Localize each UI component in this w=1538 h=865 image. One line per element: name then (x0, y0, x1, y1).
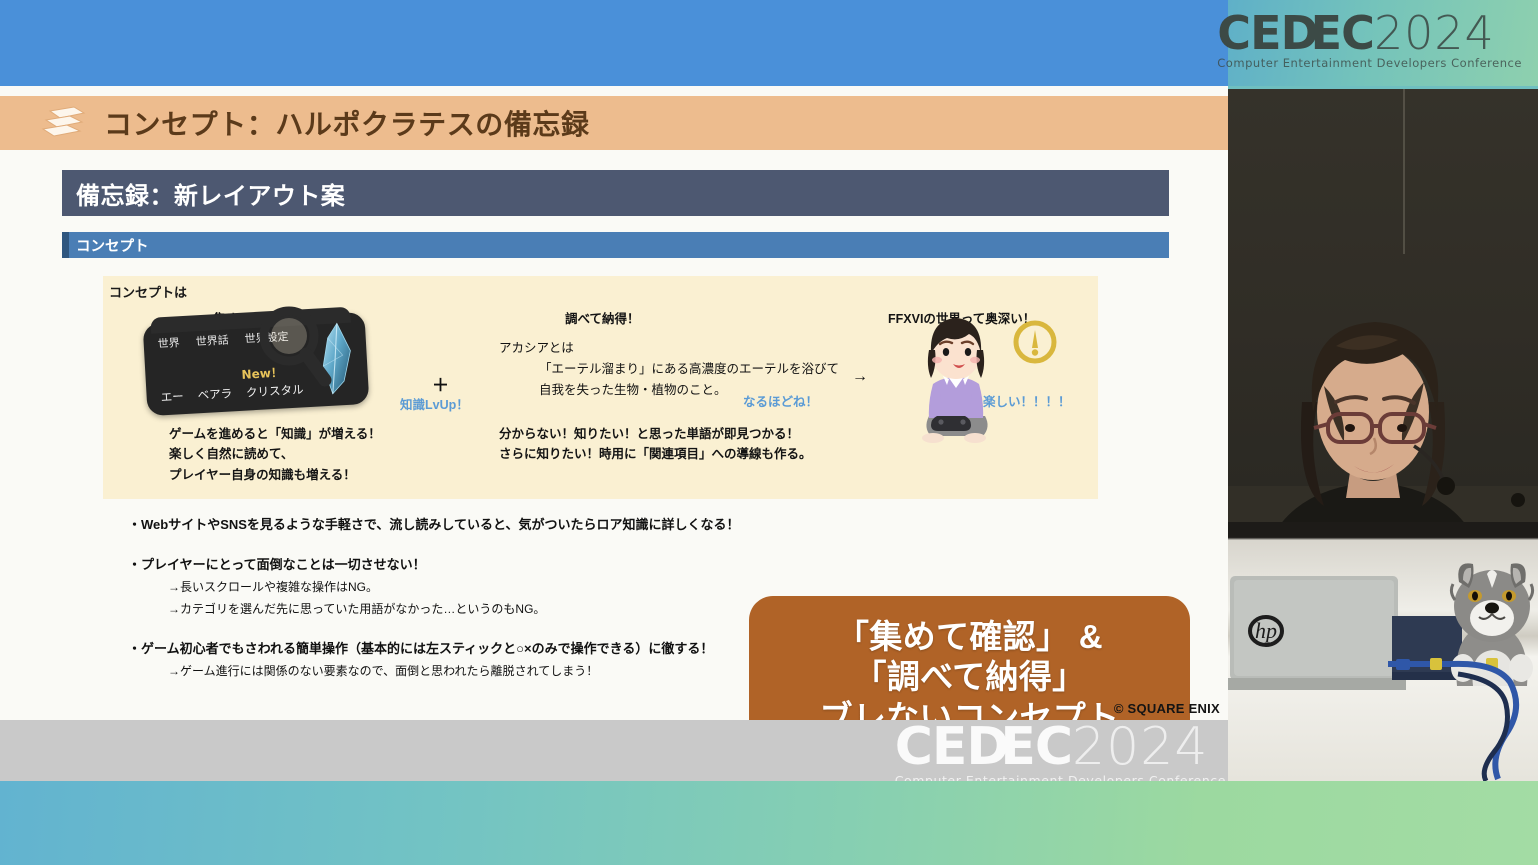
slide-title-bar: コンセプト：ハルポクラテスの備忘録 (0, 96, 1228, 150)
subsection-bar: コンセプト (62, 232, 1169, 258)
card-tab-1: 世界 (157, 334, 180, 351)
cedec-wm-year: 2024 (1072, 721, 1209, 773)
slide-title: コンセプト：ハルポクラテスの備忘録 (104, 103, 590, 143)
card-item-2: ベアラ (197, 385, 232, 403)
note-lvup: 知識LvUp！ (400, 394, 469, 413)
section-header: 備忘録：新レイアウト案 (62, 170, 1169, 216)
spacer-4 (128, 617, 768, 638)
callout-line-2: 「調べて納得」 (854, 657, 1086, 697)
bullet-2-sub-2: →カテゴリを選んだ先に思っていた用語がなかった…というのもNG。 (168, 600, 768, 617)
column-footer-1: ゲームを進めると「知識」が増える！ 楽しく自然に読めて、 プレイヤー自身の知識も… (169, 424, 381, 485)
note-naruhodo: なるほどね！ (743, 391, 818, 410)
callout-line-3: ブレないコンセプト (820, 698, 1120, 720)
definition-body-2: 自我を失った生物・植物のこと。 (539, 380, 727, 402)
col1-foot-line3: プレイヤー自身の知識も増える！ (169, 465, 381, 485)
bullet-2-sub-1: →長いスクロールや複雑な操作はNG。 (168, 578, 768, 595)
bullet-list: ・WebサイトやSNSを見るような手軽さで、流し読みしていると、気がついたらロア… (128, 514, 768, 679)
magnifier-icon (253, 304, 335, 390)
cedec-wm-d: D (966, 720, 1008, 777)
hp-laptop: hp (1228, 574, 1406, 694)
cedec-logo-tagline: Computer Entertainment Developers Confer… (1217, 58, 1522, 70)
girl-with-gamepad-icon (913, 312, 999, 444)
presentation-slide: コンセプト：ハルポクラテスの備忘録 備忘録：新レイアウト案 コンセプト コンセプ… (0, 86, 1228, 720)
books-icon (40, 104, 90, 142)
subsection-label: コンセプト (76, 235, 149, 256)
concept-panel: コンセプトは 集めて確認！ 世界 世界話 世界設定 New！ エー ベアラ クリ… (103, 276, 1098, 499)
camera-top-edge (1228, 86, 1538, 89)
card-tab-2: 世界話 (195, 332, 229, 350)
concept-lead: コンセプトは (109, 282, 187, 301)
spacer-1 (128, 533, 768, 554)
arrow-operator: → (852, 368, 868, 386)
cedec-logo-header: CE D EC 2024 Computer Entertainment Deve… (1217, 10, 1522, 70)
svg-text:hp: hp (1255, 618, 1277, 643)
exclamation-circle-icon (1011, 318, 1059, 366)
cedec-logo-d: D (1281, 6, 1318, 60)
plus-operator: ＋ (432, 371, 449, 396)
wall-seam-line (1403, 86, 1405, 254)
bullet-2: ・プレイヤーにとって面倒なことは一切させない！ (128, 554, 768, 573)
col1-foot-line2: 楽しく自然に読めて、 (169, 444, 381, 464)
note-tanoshii: 楽しい！！！！ (983, 391, 1071, 410)
definition-term: アカシアとは (499, 338, 574, 360)
column-footer-2: 分からない！知りたい！と思った単語が即見つかる！ さらに知りたい！時用に「関連項… (499, 424, 812, 465)
cedec-logo-ce: CE (1217, 10, 1280, 56)
column-heading-2: 調べて納得！ (565, 308, 640, 327)
presenter-camera-feed: hp (1228, 86, 1538, 781)
col2-foot-line1: 分からない！知りたい！と思った単語が即見つかる！ (499, 424, 812, 444)
section-header-label: 備忘録：新レイアウト案 (76, 176, 345, 211)
col2-foot-line2: さらに知りたい！時用に「関連項目」への導線も作る。 (499, 444, 812, 464)
cedec-wm-ce: CE (895, 721, 967, 773)
bullet-3: ・ゲーム初心者でもさわれる簡単操作（基本的には左スティックと○×のみで操作できる… (128, 638, 768, 657)
blue-cable (1388, 646, 1538, 781)
cedec-logo-year: 2024 (1374, 10, 1495, 56)
bottom-gradient-strip (0, 781, 1538, 865)
callout-line-1: 「集めて確認」 & (836, 617, 1103, 657)
cedec-logo-ec: EC (1311, 10, 1374, 56)
copyright-notice: © SQUARE ENIX (1114, 701, 1220, 716)
col1-foot-line1: ゲームを進めると「知識」が増える！ (169, 424, 381, 444)
cedec-logo-watermark: CE D EC 2024 Computer Entertainment Deve… (895, 721, 1226, 781)
screen: CE D EC 2024 Computer Entertainment Deve… (0, 0, 1538, 865)
card-item-1: エー (160, 388, 184, 405)
definition-body-1: 「エーテル溜まり」にある高濃度のエーテルを浴びて (539, 359, 839, 381)
bullet-3-sub-1: →ゲーム進行には関係のない要素なので、面倒と思われたら離脱されてしまう！ (168, 662, 768, 679)
slide-footer-bar: CE D EC 2024 Computer Entertainment Deve… (0, 720, 1228, 781)
bullet-1: ・WebサイトやSNSを見るような手軽さで、流し読みしていると、気がついたらロア… (128, 514, 768, 533)
cedec-wm-ec: EC (1000, 721, 1072, 773)
